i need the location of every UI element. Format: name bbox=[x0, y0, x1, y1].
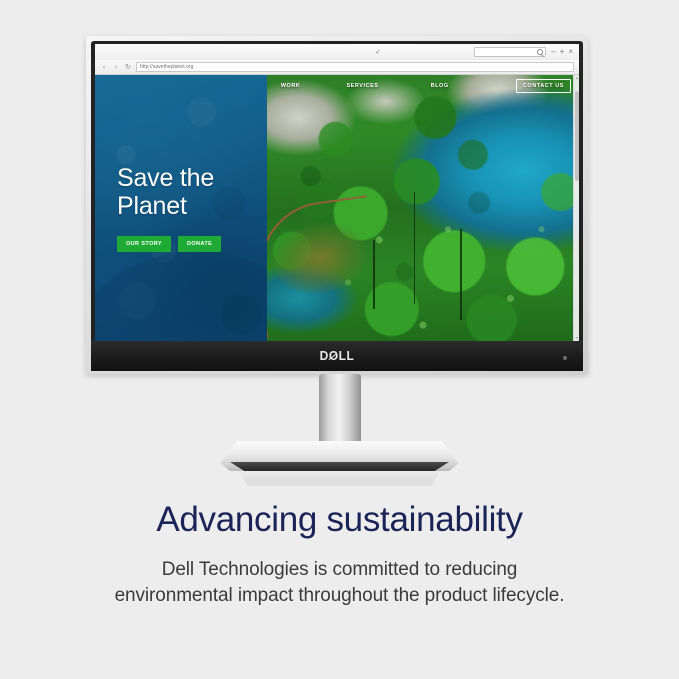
scroll-down-icon[interactable]: ▾ bbox=[575, 336, 579, 340]
tree-trunk bbox=[373, 240, 375, 309]
hero-panel: Save the Planet OUR STORY DONATE bbox=[95, 75, 267, 341]
close-button[interactable]: × bbox=[568, 48, 573, 56]
refresh-icon[interactable]: ↻ bbox=[124, 64, 132, 71]
search-input[interactable] bbox=[474, 47, 546, 57]
browser-toolbar: ‹ › ↻ http://savetheplanet.org bbox=[95, 60, 579, 75]
monitor-bottom-bezel: DOLL bbox=[91, 341, 583, 371]
donate-button[interactable]: DONATE bbox=[178, 236, 221, 252]
nav-item-work[interactable]: WORK bbox=[281, 83, 301, 89]
monitor-stand-neck bbox=[319, 374, 361, 448]
tree-trunk bbox=[460, 229, 462, 319]
our-story-button[interactable]: OUR STORY bbox=[117, 236, 171, 252]
scrollbar-thumb[interactable] bbox=[575, 91, 579, 181]
monitor-screen: ✓ – + × ‹ › ↻ bbox=[95, 44, 579, 341]
window-controls: – + × bbox=[551, 48, 575, 56]
caption-body-line1: Dell Technologies is committed to reduci… bbox=[162, 559, 518, 580]
browser-titlebar: ✓ – + × bbox=[95, 44, 579, 60]
hero-title: Save the Planet bbox=[117, 164, 267, 220]
webpage-content: Save the Planet OUR STORY DONATE bbox=[95, 75, 579, 341]
monitor-stand-base-edge bbox=[221, 462, 459, 471]
nature-photo: WORK SERVICES BLOG CONTACT US bbox=[267, 75, 579, 341]
stand-reflection bbox=[233, 470, 447, 486]
browser-window: ✓ – + × ‹ › ↻ bbox=[95, 44, 579, 341]
monitor-frame: ✓ – + × ‹ › ↻ bbox=[91, 41, 583, 371]
power-led-indicator[interactable] bbox=[563, 356, 567, 360]
dell-logo: DOLL bbox=[320, 349, 355, 364]
tab-check-icon: ✓ bbox=[375, 48, 381, 56]
maximize-button[interactable]: + bbox=[560, 48, 565, 56]
caption-body-line2: environmental impact throughout the prod… bbox=[115, 585, 565, 606]
nav-item-services[interactable]: SERVICES bbox=[346, 83, 378, 89]
hero-title-line1: Save the bbox=[117, 164, 267, 192]
search-icon bbox=[537, 49, 543, 55]
caption-block: Advancing sustainability Dell Technologi… bbox=[0, 500, 679, 610]
forward-button[interactable]: › bbox=[112, 64, 120, 71]
hero-title-line2: Planet bbox=[117, 192, 267, 220]
page-root: ✓ – + × ‹ › ↻ bbox=[0, 0, 679, 679]
back-button[interactable]: ‹ bbox=[100, 64, 108, 71]
nav-item-contact-us[interactable]: CONTACT US bbox=[516, 79, 571, 93]
site-nav: WORK SERVICES BLOG CONTACT US bbox=[267, 79, 579, 93]
shoal-shape bbox=[267, 215, 373, 302]
boardwalk-path bbox=[267, 195, 385, 338]
dell-logo-ll: LL bbox=[339, 349, 355, 364]
page-scrollbar[interactable]: ▴ ▾ bbox=[573, 75, 579, 341]
tree-trunk bbox=[414, 192, 416, 304]
address-bar[interactable]: http://savetheplanet.org bbox=[136, 62, 574, 72]
scroll-up-icon[interactable]: ▴ bbox=[575, 76, 579, 80]
address-bar-url: http://savetheplanet.org bbox=[140, 64, 193, 70]
dell-monitor: ✓ – + × ‹ › ↻ bbox=[86, 36, 588, 374]
nav-item-blog[interactable]: BLOG bbox=[431, 83, 449, 89]
hero-buttons: OUR STORY DONATE bbox=[117, 236, 267, 252]
page-title: Advancing sustainability bbox=[22, 500, 657, 539]
caption-body: Dell Technologies is committed to reduci… bbox=[30, 557, 650, 609]
dell-logo-d: D bbox=[320, 349, 329, 364]
dell-logo-slashed-o: O bbox=[329, 349, 339, 364]
minimize-button[interactable]: – bbox=[551, 48, 555, 56]
